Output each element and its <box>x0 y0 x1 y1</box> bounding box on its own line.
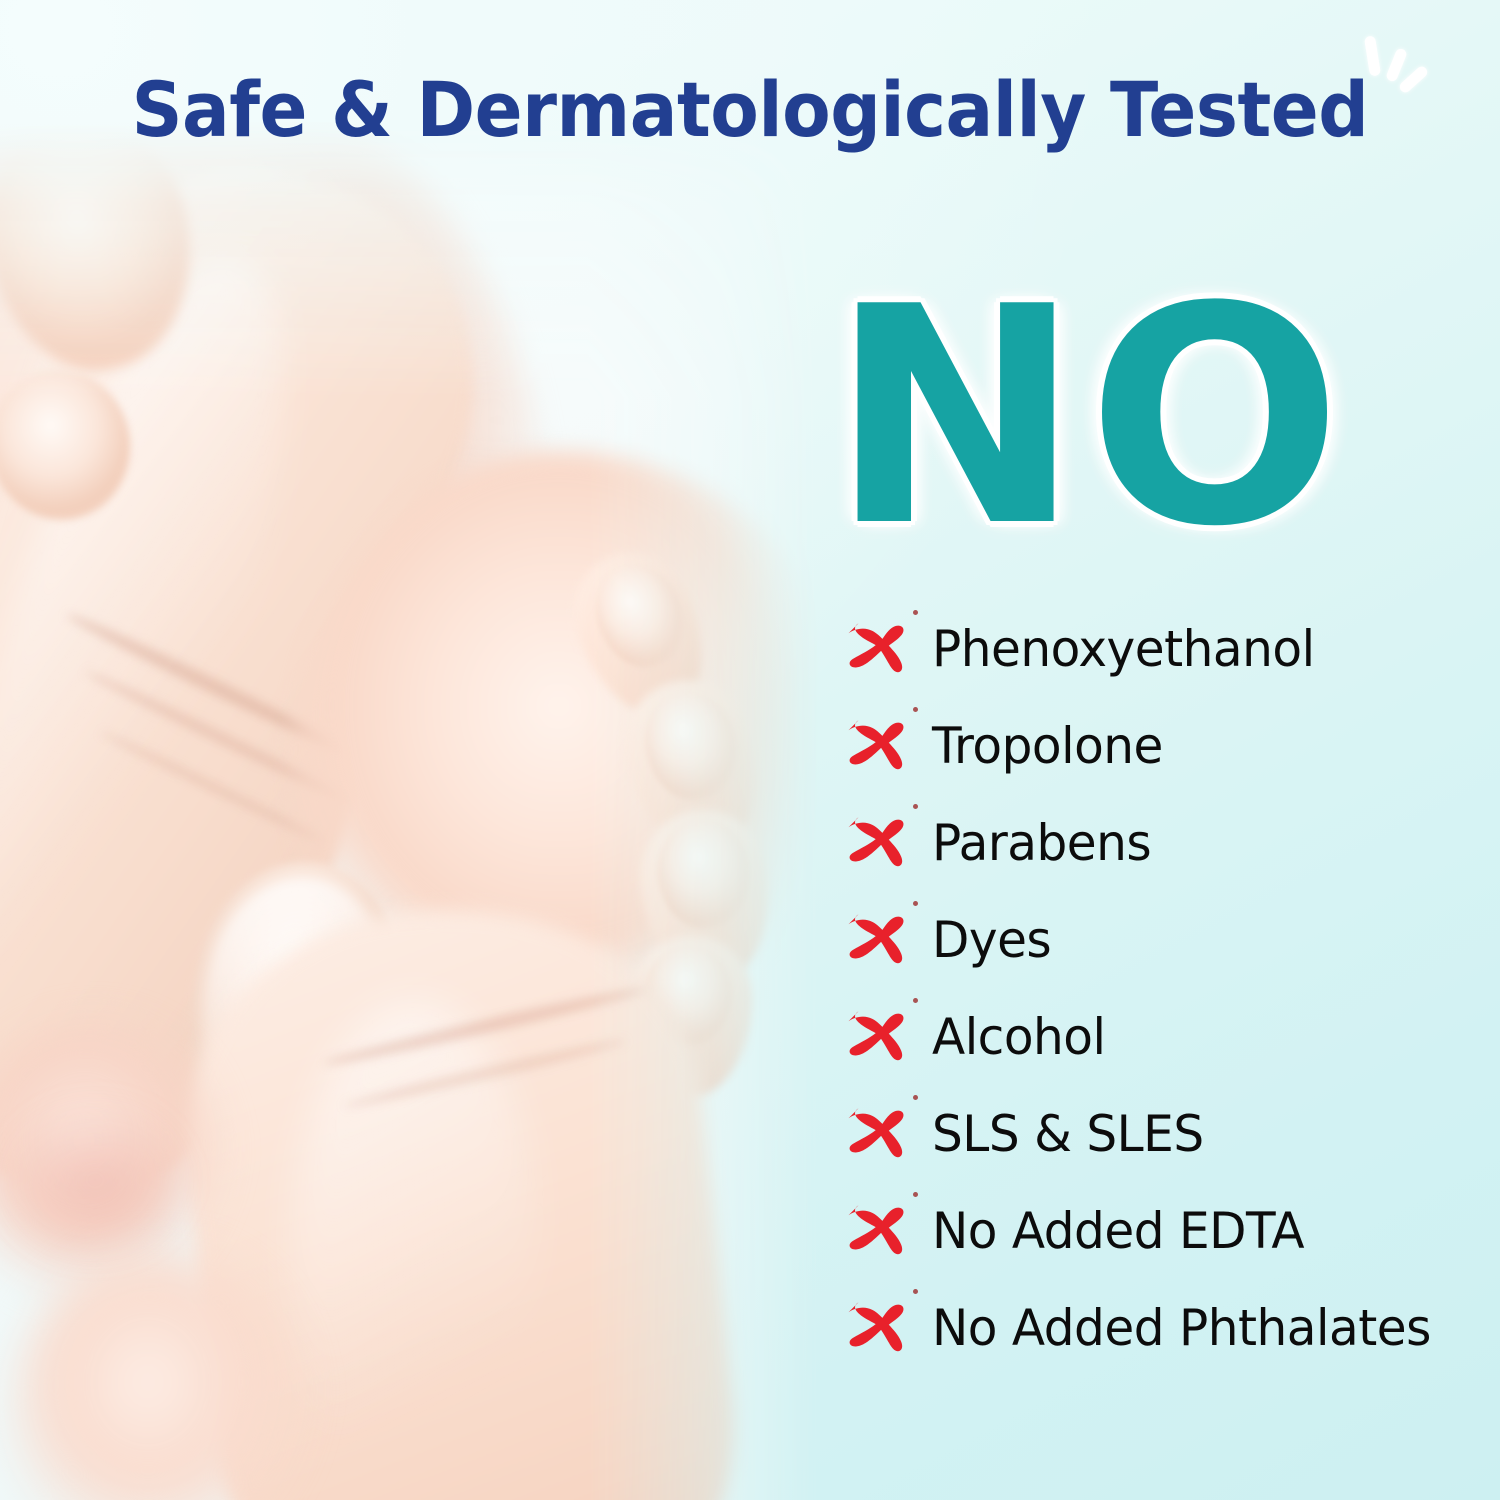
marker-dot <box>913 610 918 615</box>
list-item-label: No Added EDTA <box>932 1206 1304 1256</box>
red-x-icon <box>845 717 907 775</box>
list-item: Alcohol <box>845 988 1495 1085</box>
red-x-icon <box>845 1299 907 1357</box>
sparkle-dashes-icon <box>1358 30 1428 98</box>
promo-poster: Safe & Dermatologically Tested NO Phenox… <box>0 0 1500 1500</box>
list-item-label: Dyes <box>932 915 1051 965</box>
list-item-label: SLS & SLES <box>932 1109 1204 1159</box>
red-x-icon <box>845 1105 907 1163</box>
list-item: Phenoxyethanol <box>845 600 1495 697</box>
marker-dot <box>913 804 918 809</box>
no-heading: NO <box>830 268 1348 568</box>
list-item-label: No Added Phthalates <box>932 1303 1431 1353</box>
list-item: No Added EDTA <box>845 1182 1495 1279</box>
marker-dot <box>913 707 918 712</box>
red-x-icon <box>845 1202 907 1260</box>
list-item-label: Tropolone <box>932 721 1163 771</box>
list-item-label: Phenoxyethanol <box>932 624 1315 674</box>
skin-blush <box>0 1100 190 1260</box>
baby-hand-photo <box>0 120 820 1500</box>
marker-dot <box>913 901 918 906</box>
list-item-label: Alcohol <box>932 1012 1105 1062</box>
red-x-icon <box>845 911 907 969</box>
red-x-icon <box>845 620 907 678</box>
list-item: Dyes <box>845 891 1495 988</box>
red-x-icon <box>845 1008 907 1066</box>
red-x-icon <box>845 814 907 872</box>
page-title: Safe & Dermatologically Tested <box>53 72 1448 148</box>
marker-dot <box>913 998 918 1003</box>
excluded-ingredients-list: Phenoxyethanol Tropolone Parabens <box>845 600 1495 1376</box>
marker-dot <box>913 1192 918 1197</box>
list-item: No Added Phthalates <box>845 1279 1495 1376</box>
marker-dot <box>913 1289 918 1294</box>
list-item-label: Parabens <box>932 818 1151 868</box>
list-item: Parabens <box>845 794 1495 891</box>
list-item: SLS & SLES <box>845 1085 1495 1182</box>
marker-dot <box>913 1095 918 1100</box>
list-item: Tropolone <box>845 697 1495 794</box>
